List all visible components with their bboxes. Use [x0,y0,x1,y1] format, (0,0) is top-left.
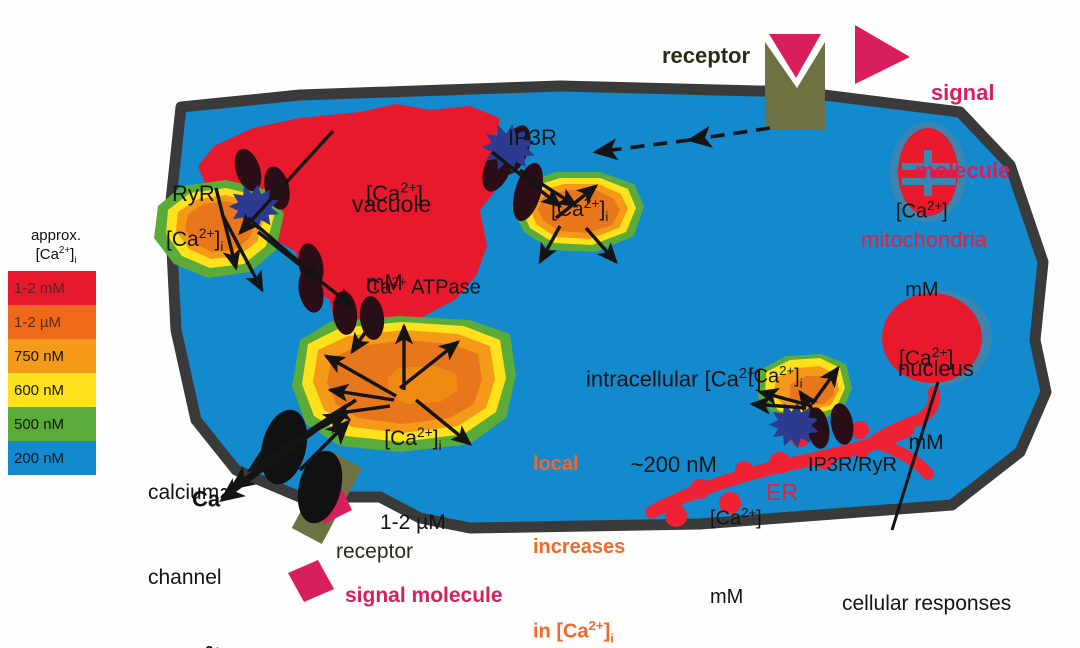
label-signal-molecule-bottom: signal molecule [345,585,503,608]
legend-band-1-2uM: 1-2 µM [8,305,96,339]
calcium-signalling-diagram: approx. [Ca2+]i 1-2 mM 1-2 µM 750 nM 600… [0,0,1080,648]
label-er-concentration: [Ca2+] mM [710,452,762,648]
legend-caption-line1: approx. [8,228,104,245]
label-extracellular-concentration: extracellular [Ca2+] µM- mM [34,586,229,648]
label-receptor-bottom: receptor [336,541,413,564]
label-vacuole: vacuole [352,192,431,217]
label-er-hotspot-concentration: [Ca2+]i [748,364,803,391]
legend-band-600nM: 600 nM [8,373,96,407]
label-ip3r-ryr: IP3R/RyR [808,455,897,477]
signal-molecule-top-line1: signal [915,80,1010,106]
label-ip3r-hotspot-concentration: [Ca2+]i [551,196,608,224]
label-cellular-responses: cellular responses e.g. gene transcripti… [842,535,1050,648]
er-conc-line2: mM [710,584,762,610]
legend-band-1-2mM: 1-2 mM [8,271,96,305]
main-hotspot-line2: 1-2 µM [380,509,446,536]
extracellular-line1: extracellular [Ca2+] [34,643,229,648]
local-increases-line2: increases [533,534,625,562]
cellular-responses-line1: cellular responses [842,590,1050,618]
label-er: ER [766,480,798,505]
local-increases-line1: local [533,451,625,479]
receptor-top [765,30,825,130]
main-hotspot-line1: [Ca2+]i [380,423,446,455]
label-ca-ion: Ca2+ [192,487,237,511]
concentration-legend: approx. [Ca2+]i 1-2 mM 1-2 µM 750 nM 600… [8,228,104,475]
label-receptor-top: receptor [662,44,750,68]
label-ip3r: IP3R [508,126,557,150]
label-local-increases: local increases in [Ca2+]i [533,396,625,648]
legend-bands: 1-2 mM 1-2 µM 750 nM 600 nM 500 nM 200 n… [8,271,96,475]
signal-molecule-free-top [855,25,910,84]
er-vesicle [851,421,869,439]
intracellular-line1: intracellular [Ca2+] [586,365,762,394]
legend-band-750nM: 750 nM [8,339,96,373]
signal-molecule-free-bottom [288,560,334,602]
label-ca-atpase: Ca2+ ATPase [366,275,481,299]
legend-band-500nM: 500 nM [8,407,96,441]
legend-caption-line2: [Ca2+]i [8,245,104,265]
label-nucleus-concentration: [Ca2+] mM [899,288,953,512]
label-ryr: RyR [172,182,215,206]
label-nucleus: nucleus [898,357,974,381]
er-conc-line1: [Ca2+] [710,504,762,532]
er-vesicle [769,452,791,474]
label-vacuole-concentration: [Ca2+] mM [366,120,423,358]
legend-band-200nM: 200 nM [8,441,96,475]
legend-caption: approx. [Ca2+]i [8,228,104,265]
local-increases-line3: in [Ca2+]i [533,617,625,648]
nucleus-conc-line2: mM [899,429,953,457]
mito-conc-line1: [Ca2+] [896,197,948,225]
label-mitochondria: mitochondria [861,228,987,252]
label-ryr-hotspot-concentration: [Ca2+]i [166,226,223,254]
